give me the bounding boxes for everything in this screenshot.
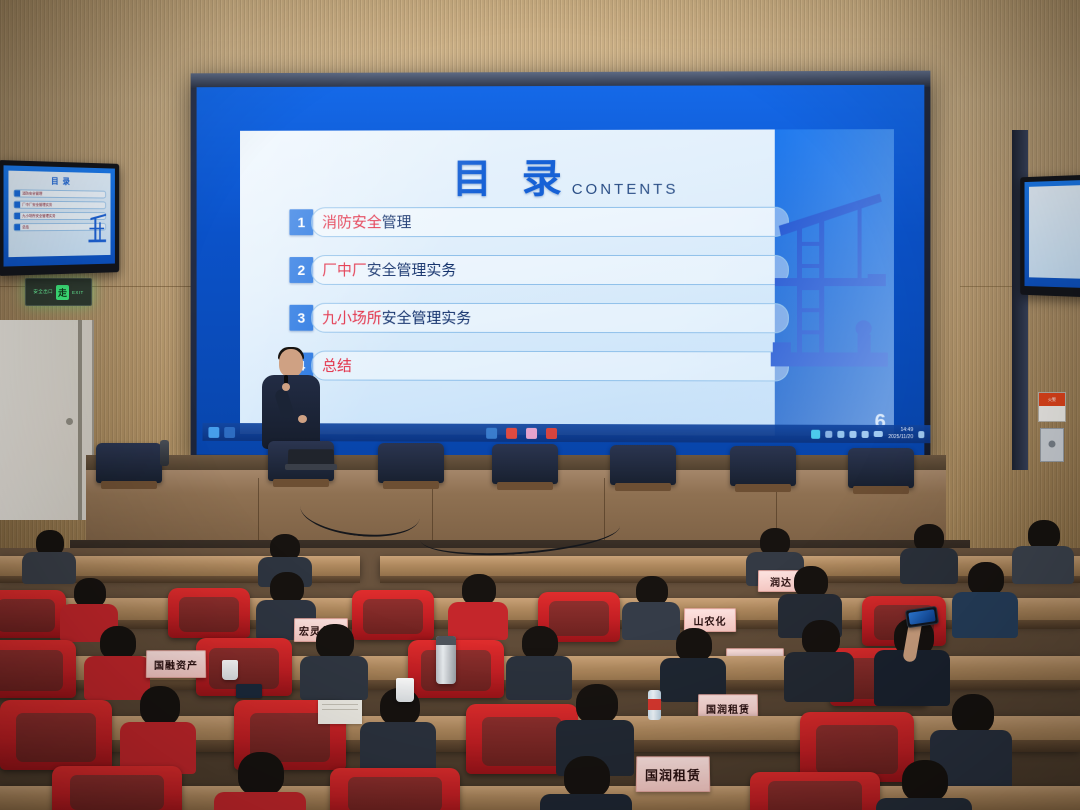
clock-date: 2025/11/20: [888, 434, 913, 441]
row-number-badge: [14, 202, 20, 208]
left-confidence-monitor: 目 录 消防安全管理 厂中厂安全管理实务 九小场所安全管理实务 总结: [0, 160, 119, 276]
audience-member: [120, 686, 196, 772]
wps-office-icon[interactable]: [506, 427, 517, 438]
seat-cushion: [348, 777, 442, 810]
toc-item-highlight: 厂中厂: [322, 261, 367, 279]
audience-member: [1012, 520, 1074, 582]
fire-alarm-panel: 火警: [1038, 392, 1066, 422]
toc-item[interactable]: 1 消防安全管理: [289, 204, 788, 239]
exit-sign-right-label: EXIT: [72, 290, 84, 295]
toc-item-label: 九小场所安全管理实务: [322, 307, 471, 328]
seat-cushion: [768, 781, 862, 810]
presentation-slide: 目 录CONTENTS 1 消防安全管理 2 厂中厂安全管理实务: [240, 129, 894, 436]
seat-cushion: [70, 775, 164, 810]
person-head: [902, 760, 948, 802]
toc-item-label: 消防安全管理: [322, 211, 411, 232]
toc-item-rest: 安全管理实务: [382, 309, 472, 327]
table-of-contents: 1 消防安全管理 2 厂中厂安全管理实务 3 九小: [289, 204, 788, 397]
toc-item-rest: 管理: [382, 213, 412, 231]
person-body: [300, 656, 368, 700]
thermos-flask[interactable]: [436, 636, 456, 684]
right-monitor-slide: [1029, 185, 1080, 279]
person-body: [448, 602, 508, 640]
powerpoint-tray-icon[interactable]: [811, 429, 820, 438]
person-head: [676, 628, 712, 662]
presenter-hand: [282, 383, 290, 391]
audience-member: [300, 624, 368, 698]
door-frame-edge: [78, 320, 82, 520]
table-placard: 国融资产: [146, 650, 206, 678]
task-view-icon[interactable]: [486, 427, 497, 438]
toc-item[interactable]: 3 九小场所安全管理实务: [289, 300, 788, 335]
toc-pill: 消防安全管理: [311, 206, 789, 236]
stage-chair[interactable]: [610, 445, 676, 485]
placard-text: 国融资产: [154, 657, 198, 672]
presenter-hand-right: [298, 415, 307, 423]
stage-chair[interactable]: [730, 446, 796, 486]
person-body: [876, 798, 972, 810]
toc-item-label: 总结: [322, 355, 352, 376]
row-text: 总结: [22, 225, 29, 230]
toc-item-label: 厂中厂安全管理实务: [322, 259, 456, 280]
row-text: 九小场所安全管理实务: [22, 213, 55, 218]
person-head: [238, 752, 284, 796]
windows-start-icon[interactable]: [208, 426, 219, 437]
presenter-head: [279, 349, 303, 377]
slide-title-en: CONTENTS: [572, 181, 679, 198]
stage-chair[interactable]: [848, 448, 914, 488]
wps-presentation-icon[interactable]: [546, 427, 557, 438]
podium-laptop[interactable]: [285, 449, 337, 471]
right-confidence-monitor: [1020, 175, 1080, 298]
person-head: [952, 694, 994, 734]
taskbar-pinned-apps[interactable]: [235, 427, 811, 440]
crane-illustration: [771, 192, 888, 383]
toc-number-badge: 2: [289, 257, 313, 283]
audience-member: [448, 574, 508, 638]
person-body: [952, 592, 1018, 638]
row-number-badge: [14, 190, 20, 196]
toc-pill: 厂中厂安全管理实务: [311, 254, 789, 284]
crane-illustration-icon: [771, 192, 888, 383]
stage-chair[interactable]: [492, 444, 558, 484]
fire-alarm-call-point[interactable]: [1040, 428, 1064, 462]
podium-water-bottle[interactable]: [160, 440, 169, 466]
auditorium-seat[interactable]: [330, 768, 460, 810]
toc-pill: 总结: [311, 350, 789, 381]
laptop-keyboard[interactable]: [285, 464, 337, 470]
taskbar-left-group[interactable]: [203, 426, 236, 437]
battery-icon[interactable]: [874, 431, 883, 437]
photos-icon[interactable]: [526, 427, 537, 438]
placard-text: 山农化: [693, 613, 726, 628]
left-monitor-slide-title: 目 录: [8, 175, 110, 188]
toc-item[interactable]: 4 总结: [289, 348, 788, 384]
person-head: [522, 626, 558, 660]
person-head: [564, 756, 610, 798]
seat-cushion: [179, 597, 238, 632]
thermos-cap[interactable]: [436, 636, 456, 645]
seat-cushion: [0, 650, 63, 691]
left-monitor-row: 消防安全管理: [13, 189, 106, 198]
taskbar-clock[interactable]: 14:49 2025/11/20: [888, 427, 913, 441]
ime-icon[interactable]: [826, 430, 833, 437]
person-head: [802, 620, 840, 656]
person-head: [576, 684, 618, 724]
person-body: [540, 794, 632, 810]
left-monitor-screen: 目 录 消防安全管理 厂中厂安全管理实务 九小场所安全管理实务 总结: [4, 165, 115, 266]
seat-cushion: [209, 648, 278, 689]
auditorium-seat[interactable]: [168, 588, 250, 638]
toc-item-highlight: 九小场所: [322, 309, 382, 327]
audience-member: [900, 524, 958, 582]
toc-item-highlight: 总结: [322, 357, 352, 375]
search-icon[interactable]: [224, 427, 235, 438]
podium-seam: [258, 478, 259, 542]
audience-member: [784, 620, 854, 700]
audience-member: [952, 562, 1018, 636]
network-icon[interactable]: [850, 430, 857, 437]
row-text: 消防安全管理: [22, 191, 42, 196]
emergency-exit-sign: 安全出口 走 EXIT: [25, 278, 92, 306]
placard-text: 国润租赁: [706, 701, 750, 716]
auditorium-seat[interactable]: [750, 772, 880, 810]
running-man-icon: 走: [56, 285, 69, 300]
volume-icon[interactable]: [862, 430, 869, 437]
audience-member: [22, 530, 76, 582]
taskbar-system-tray[interactable]: 14:49 2025/11/20: [811, 427, 930, 441]
notification-icon[interactable]: [918, 431, 924, 438]
seat-cushion: [16, 713, 97, 762]
stage-chair[interactable]: [96, 443, 162, 483]
crane-illustration-icon: [87, 212, 107, 245]
left-monitor-row: 厂中厂安全管理实务: [13, 201, 106, 210]
row-text: 厂中厂安全管理实务: [22, 202, 52, 207]
audience-member: [214, 752, 306, 810]
audience-member: [876, 760, 972, 810]
seat-cushion: [0, 599, 55, 633]
audience-member: [540, 756, 632, 810]
toc-item[interactable]: 2 厂中厂安全管理实务: [289, 252, 788, 287]
toc-pill: 九小场所安全管理实务: [311, 302, 789, 332]
person-head: [100, 626, 136, 660]
left-monitor-slide: 目 录 消防安全管理 厂中厂安全管理实务 九小场所安全管理实务 总结: [8, 171, 110, 258]
auditorium-seat[interactable]: [0, 590, 66, 638]
auditorium-seat[interactable]: [0, 640, 76, 698]
toc-item-highlight: 消防安全: [322, 213, 382, 231]
paper-cup[interactable]: [222, 660, 238, 680]
alarm-button-icon[interactable]: [1049, 440, 1056, 447]
paper-cup[interactable]: [396, 678, 414, 702]
row-number-badge: [14, 213, 20, 219]
person-head: [140, 686, 180, 726]
person-body: [784, 652, 854, 702]
person-head: [968, 562, 1004, 596]
exit-sign-left-label: 安全出口: [33, 289, 53, 295]
toc-number-badge: 1: [289, 209, 313, 235]
notebook[interactable]: [318, 700, 362, 724]
stage-chair[interactable]: [378, 443, 444, 483]
seat-cushion: [363, 599, 422, 634]
toc-number-badge: 3: [289, 304, 313, 330]
right-monitor-screen: [1025, 180, 1080, 288]
toc-item-rest: 安全管理实务: [367, 261, 456, 279]
auditorium-seat[interactable]: [52, 766, 182, 810]
laptop-screen: [288, 449, 335, 465]
person-body: [1012, 546, 1074, 584]
person-head: [316, 624, 354, 660]
door-handle[interactable]: [66, 418, 73, 425]
person-body: [900, 548, 958, 584]
person-body: [214, 792, 306, 810]
water-bottle[interactable]: [648, 690, 661, 720]
person-body: [360, 722, 436, 774]
placard-text: 国润租赁: [645, 765, 701, 784]
conference-hall-photo: 安全出口 走 EXIT 火警 目 录 消防安全管理 厂中厂安全管理实务 九小场所…: [0, 0, 1080, 810]
auditorium-seat[interactable]: [0, 700, 112, 770]
row-number-badge: [14, 224, 20, 230]
fire-alarm-label: 火警: [1039, 393, 1065, 406]
smartphone[interactable]: [236, 684, 262, 698]
sync-icon[interactable]: [838, 430, 845, 437]
audience-member: [660, 628, 726, 700]
slide-title-cn: 目 录: [452, 146, 570, 204]
table-placard: 国润租赁: [636, 756, 711, 792]
